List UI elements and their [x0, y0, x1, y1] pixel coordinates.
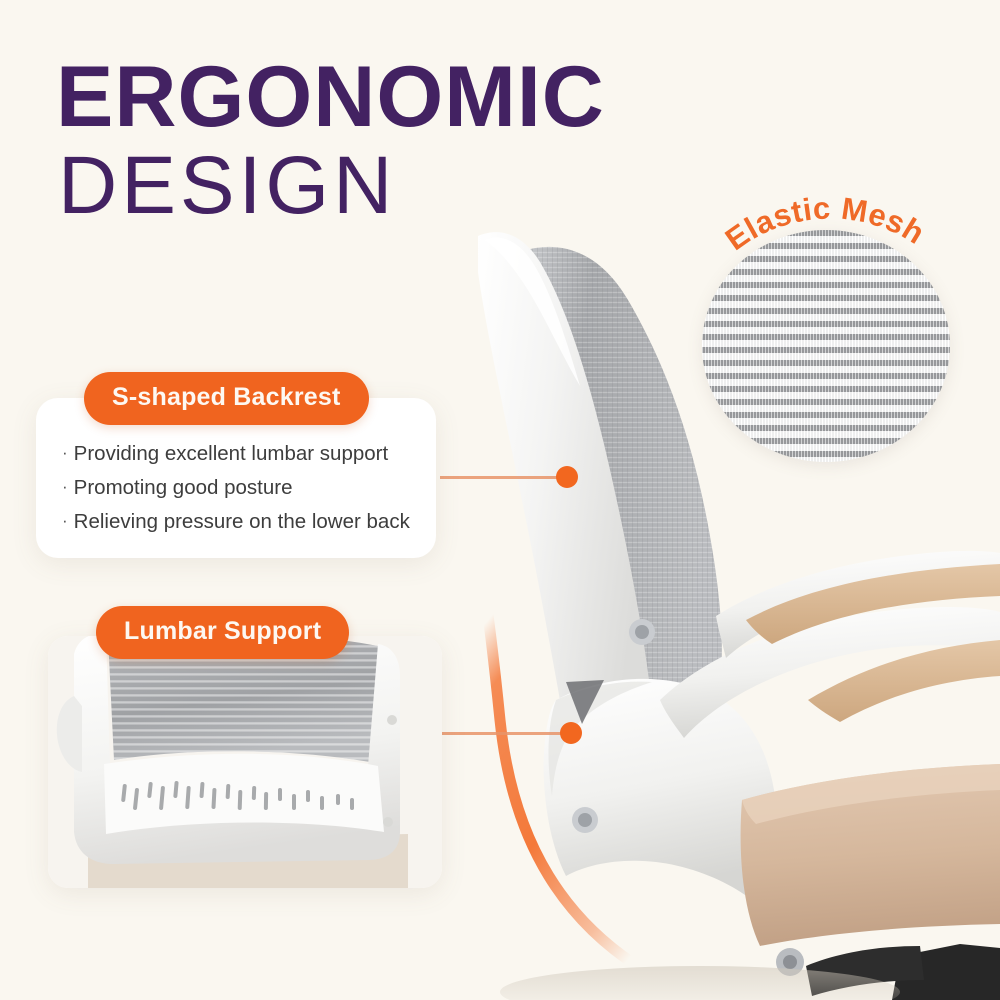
list-item-label: Providing excellent lumbar support: [74, 442, 389, 465]
connector-lumbar-line: [440, 732, 564, 735]
list-item-label: Promoting good posture: [74, 476, 293, 499]
title-line-secondary: DESIGN: [58, 143, 776, 229]
callout-card-lumbar: [48, 636, 442, 888]
elastic-mesh-label: Elastic Mesh: [678, 180, 978, 330]
backrest-benefit-list: ·Providing excellent lumbar support ·Pro…: [62, 436, 442, 538]
bullet-marker: ·: [62, 511, 68, 530]
connector-backrest-line: [440, 476, 560, 479]
list-item: ·Relieving pressure on the lower back: [62, 504, 442, 538]
list-item: ·Promoting good posture: [62, 470, 442, 504]
elastic-mesh-swatch: Elastic Mesh: [688, 222, 956, 472]
connector-backrest-dot: [556, 466, 578, 488]
bullet-marker: ·: [62, 477, 68, 496]
list-item-label: Relieving pressure on the lower back: [74, 510, 410, 533]
bullet-marker: ·: [62, 443, 68, 462]
lumbar-vent-bar: [104, 754, 384, 834]
infographic-canvas: ERGONOMIC DESIGN S-shaped Backrest ·Prov…: [0, 0, 1000, 1000]
lumbar-support-inset-photo: [48, 636, 442, 888]
list-item: ·Providing excellent lumbar support: [62, 436, 442, 470]
page-title: ERGONOMIC DESIGN: [56, 58, 776, 229]
title-line-primary: ERGONOMIC: [56, 58, 776, 137]
connector-lumbar-dot: [560, 722, 582, 744]
badge-s-shaped-backrest: S-shaped Backrest: [84, 372, 369, 425]
badge-lumbar-support: Lumbar Support: [96, 606, 349, 659]
elastic-mesh-label-text: Elastic Mesh: [719, 190, 931, 257]
